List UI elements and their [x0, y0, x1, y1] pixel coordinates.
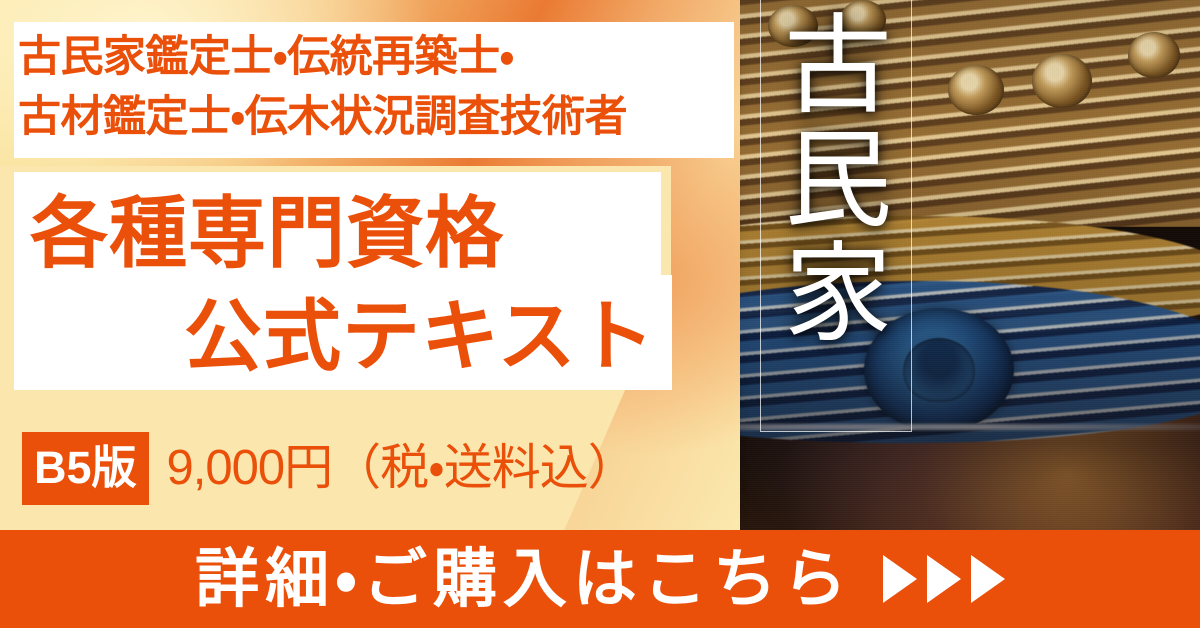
size-badge: B5版: [22, 432, 149, 505]
headline-line-1: 各種専門資格: [16, 182, 676, 285]
headline: 各種専門資格 公式テキスト: [16, 182, 676, 388]
cta-label: 詳細・ご購入はこちら: [195, 547, 853, 611]
promo-banner: 古民家 伝統構法、古民家活用のための調査と再生の 古民家鑑定士・伝統再築士・ 古…: [0, 0, 1200, 628]
price-text: 9,000円（税・送料込）: [167, 444, 636, 493]
cta-arrows: [883, 555, 1005, 603]
cover-title: 古民家: [776, 8, 896, 428]
play-arrow-icon: [971, 555, 1005, 603]
play-arrow-icon: [883, 555, 917, 603]
qualification-line-1: 古民家鑑定士・伝統再築士・: [18, 28, 730, 88]
play-arrow-icon: [927, 555, 961, 603]
headline-line-2: 公式テキスト: [16, 285, 676, 388]
price-row: B5版 9,000円（税・送料込）: [22, 432, 636, 505]
qualifications-text: 古民家鑑定士・伝統再築士・ 古材鑑定士・伝木状況調査技術者: [18, 28, 730, 148]
cta-button[interactable]: 詳細・ご購入はこちら: [0, 530, 1200, 628]
qualification-line-2: 古材鑑定士・伝木状況調査技術者: [18, 88, 730, 148]
